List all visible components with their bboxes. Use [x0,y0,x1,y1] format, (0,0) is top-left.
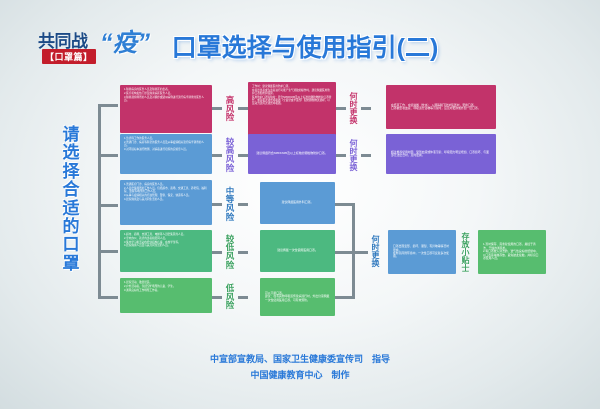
scenario-box-lower-risk: 1.超市、商场、交通工具、电梯等人员密集区的人员。 2.室内办公、就诊的患者和陪… [120,230,212,272]
connector-high-risk-a [212,107,222,110]
replace-lower-char-4: 换 [372,260,380,268]
heading-char-8: 罩 [63,255,80,273]
heading-char-6: 的 [63,218,80,236]
connector-left-spine [98,104,101,296]
scenario-text-high-risk: 1.隔离病房的医务人员及隔离区的患者。 2.医疗机构发热门诊及隔离病区医务人员。… [120,85,212,106]
mask-text-lower-risk: 建议佩戴一次性使用医用口罩。 [260,230,335,272]
connector-low-risk-b [238,296,248,299]
connector-high-risk-b [238,107,248,110]
replace-text-lower-risk: 口罩出现变形、损坏、潮湿、有异味等情况时更换。 在非高风险环境中，一次性口罩可反… [388,230,456,274]
page-title: 口罩选择与使用指引(二) [150,28,460,64]
logo-accent-text: “疫” [100,23,150,59]
footer-line-producer: 中国健康教育中心 制作 [0,368,600,384]
mask-text-high-risk: 工作时：建议佩戴医用防护口罩。 在接诊患者或为患者进行可能产生气溶胶的操作时，建… [248,82,336,109]
page-footer: 中宣部宣教局、国家卫生健康委宣传司 指导 中国健康教育中心 制作 [0,352,600,384]
mask-box-lower-risk: 建议佩戴一次性使用医用口罩。 [260,230,335,272]
column-header-replace-lower: 何 时 更 换 [368,230,383,274]
risk-label-lower: 较 低 风 险 [222,229,238,275]
replace-high-char-4: 换 [350,117,358,125]
diagram-vertical-heading: 请 选 择 合 适 的 口 罩 [56,97,86,302]
connector-merge-out [352,251,368,254]
risk-label-medium-char-4: 险 [226,213,235,222]
connector-left-branch-5 [98,296,118,299]
scenario-box-higher-risk: 1.急诊科工作的医务人员。 2.普通门诊、病房等科室的医务人员及从事疫情相关流行… [120,134,212,174]
risk-label-low-char-3: 险 [226,301,235,310]
storage-char-5: 士 [462,265,470,273]
replace-text-high-risk: 在结束工作、中途进餐（饮水）、入厕等脱下防护装置时，更换口罩。 口罩被患者血液、… [386,85,496,129]
column-header-replace-high: 何 时 更 换 [346,88,361,130]
footer-line-guidance: 中宣部宣教局、国家卫生健康委宣传司 指导 [0,352,600,368]
mask-box-low-risk: 可以不戴口罩。 建议：在有其他呼吸道传染病流行时，外出仍需佩戴一次性使用医用口罩… [260,278,335,316]
connector-left-branch-3 [98,204,118,207]
replace-box-lower-risk: 口罩出现变形、损坏、潮湿、有异味等情况时更换。 在非高风险环境中，一次性口罩可反… [388,230,456,274]
connector-left-branch-4 [98,250,118,253]
replace-box-higher-risk: 超过推荐使用时限、受到血液或体液污染、呼吸阻力明显增加、口罩损坏、与面部无法密合… [386,134,496,174]
scenario-box-high-risk: 1.隔离病房的医务人员及隔离区的患者。 2.医疗机构发热门诊及隔离病区医务人员。… [120,85,212,133]
connector-lower-risk-b [238,251,248,254]
mask-box-higher-risk: 建议佩戴符合N95/KN95及以上标准的颗粒物防护口罩。 [248,134,336,174]
mask-box-medium-risk: 建议佩戴医用外科口罩。 [260,182,335,224]
connector-lower-risk-a [212,251,222,254]
scenario-box-low-risk: 1.居家活动、散居居民。 2.户外活动者，包括空旷场所的儿童、学生。 3.通风良… [120,278,212,313]
risk-label-high-char-3: 险 [226,113,235,122]
scenario-text-higher-risk: 1.急诊科工作的医务人员。 2.普通门诊、病房等科室的医务人员及从事疫情相关流行… [120,134,212,155]
connector-left-branch-2 [98,154,118,157]
replace-box-high-risk: 在结束工作、中途进餐（饮水）、入厕等脱下防护装置时，更换口罩。 口罩被患者血液、… [386,85,496,129]
scenario-text-medium-risk: 1.普通医疗门诊、病房的医务人员。 2.人员密集场所的工作人员，包括超市、商场、… [120,180,212,205]
risk-label-low: 低 风 险 [222,278,238,316]
replace-higher-char-4: 换 [350,164,358,172]
connector-high-replace-b [361,107,371,110]
campaign-logo: 共同战 “疫” 【口罩篇】 [38,27,143,67]
column-header-storage-tips: 存 放 小 贴 士 [458,228,473,278]
logo-subtitle-badge: 【口罩篇】 [42,49,96,64]
heading-char-7: 口 [63,236,80,254]
connector-high-replace-a [336,107,346,110]
connector-higher-replace-a [336,154,346,157]
connector-left-branch-1 [98,104,118,107]
connector-higher-replace-b [361,154,371,157]
mask-text-higher-risk: 建议佩戴符合N95/KN95及以上标准的颗粒物防护口罩。 [248,134,336,174]
column-header-replace-higher: 何 时 更 换 [346,135,361,177]
heading-char-4: 合 [63,181,80,199]
risk-label-lower-char-4: 险 [226,261,235,270]
flow-diagram: 请 选 择 合 适 的 口 罩 1.隔离病房的医务人员及隔离区的患者。 2.医疗… [0,72,600,342]
page-header: 共同战 “疫” 【口罩篇】 口罩选择与使用指引(二) [0,0,600,72]
replace-text-higher-risk: 超过推荐使用时限、受到血液或体液污染、呼吸阻力明显增加、口罩损坏、与面部无法密合… [386,134,496,174]
risk-label-higher: 较 高 风 险 [222,132,238,178]
connector-medium-risk-b [238,203,248,206]
scenario-text-lower-risk: 1.超市、商场、交通工具、电梯等人员密集区的人员。 2.室内办公、就诊的患者和陪… [120,230,212,251]
scenario-text-low-risk: 1.居家活动、散居居民。 2.户外活动者，包括空旷场所的儿童、学生。 3.通风良… [120,278,212,295]
storage-tips-text: 1.暂时保存、需重复使用的口罩，悬挂于清洁、干燥的通风处。 2.将口罩放入清洁的… [478,230,546,274]
mask-text-low-risk: 可以不戴口罩。 建议：在有其他呼吸道传染病流行时，外出仍需佩戴一次性使用医用口罩… [260,278,335,316]
risk-label-medium: 中 等 风 险 [222,181,238,227]
storage-tips-box: 1.暂时保存、需重复使用的口罩，悬挂于清洁、干燥的通风处。 2.将口罩放入清洁的… [478,230,546,274]
connector-medium-risk-a [212,203,222,206]
heading-char-2: 选 [63,144,80,162]
scenario-box-medium-risk: 1.普通医疗门诊、病房的医务人员。 2.人员密集场所的工作人员，包括超市、商场、… [120,180,212,225]
risk-label-higher-char-4: 险 [226,164,235,173]
mask-box-high-risk: 工作时：建议佩戴医用防护口罩。 在接诊患者或为患者进行可能产生气溶胶的操作时，建… [248,82,336,136]
connector-low-risk-a [212,296,222,299]
connector-higher-risk-a [212,154,222,157]
heading-char-3: 择 [63,163,80,181]
risk-label-high: 高 风 险 [222,87,238,131]
connector-higher-risk-b [238,154,248,157]
heading-char-1: 请 [63,126,80,144]
heading-char-5: 适 [63,200,80,218]
mask-text-medium-risk: 建议佩戴医用外科口罩。 [260,182,335,224]
